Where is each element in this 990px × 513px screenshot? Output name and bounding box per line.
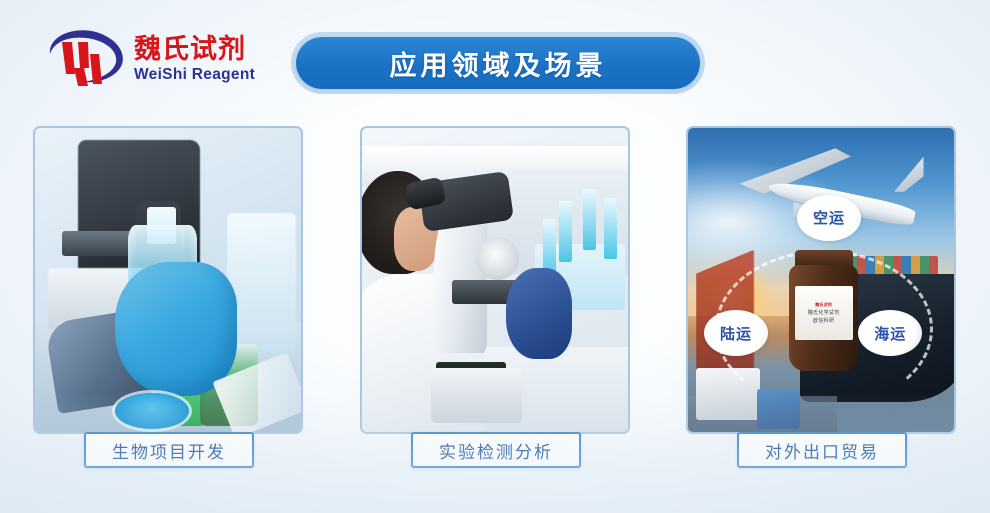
caption-label: 生物项目开发 — [112, 438, 226, 463]
photo-bio-project-development — [35, 128, 301, 432]
badge-air-freight: 空运 — [797, 195, 861, 241]
caption-bio-project-development[interactable]: 生物项目开发 — [84, 432, 254, 468]
badge-sea-freight-label: 海运 — [874, 323, 906, 344]
bottle-label-line2: 欧信科研 — [813, 317, 834, 324]
photo-export-trade: 魏氏试剂 魏氏化学试剂 欧信科研 空运 陆运 海运 — [688, 128, 954, 432]
slide-canvas: 魏氏试剂 WeiShi Reagent 应用领域及场景 — [0, 0, 990, 513]
bottle-label-brand: 魏氏试剂 — [815, 302, 832, 308]
caption-lab-testing-analysis[interactable]: 实验检测分析 — [411, 432, 581, 468]
card-bio-project-development[interactable] — [33, 126, 303, 434]
bottle-label: 魏氏试剂 魏氏化学试剂 欧信科研 — [795, 286, 853, 340]
card-export-trade[interactable]: 魏氏试剂 魏氏化学试剂 欧信科研 空运 陆运 海运 — [686, 126, 956, 434]
photo-lab-testing-analysis — [362, 128, 628, 432]
caption-label: 对外出口贸易 — [765, 438, 879, 463]
card-lab-testing-analysis[interactable] — [360, 126, 630, 434]
badge-air-freight-label: 空运 — [813, 207, 845, 228]
caption-label: 实验检测分析 — [439, 438, 553, 463]
caption-export-trade[interactable]: 对外出口贸易 — [737, 432, 907, 468]
bottle-label-line1: 魏氏化学试剂 — [808, 309, 840, 316]
badge-land-freight-label: 陆运 — [720, 323, 752, 344]
application-cards: 魏氏试剂 魏氏化学试剂 欧信科研 空运 陆运 海运 生物项目开发 — [0, 0, 990, 513]
reagent-bottle: 魏氏试剂 魏氏化学试剂 欧信科研 — [789, 250, 858, 372]
